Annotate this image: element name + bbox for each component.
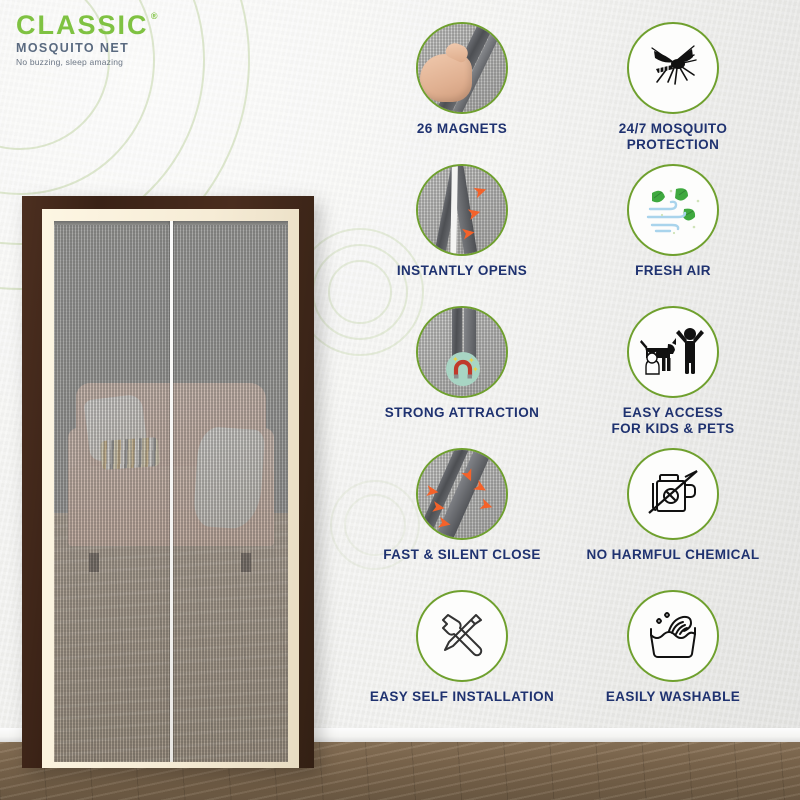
mesh-opening-arrows-photo-icon: ➤ ➤ ➤ xyxy=(416,164,508,256)
feature-magnets[interactable]: 26 MAGNETS xyxy=(367,22,557,137)
feature-label: EASY ACCESS FOR KIDS & PETS xyxy=(575,405,771,437)
feature-fresh-air[interactable]: FRESH AIR xyxy=(575,164,771,279)
feature-label: FAST & SILENT CLOSE xyxy=(367,547,557,563)
feature-label: INSTANTLY OPENS xyxy=(367,263,557,279)
feature-easy-self-installation[interactable]: EASY SELF INSTALLATION xyxy=(367,590,557,705)
magnet-emblem: ✦ ✦ ✦ xyxy=(446,352,480,386)
mesh-center-split xyxy=(170,221,173,762)
feature-mosquito-protection[interactable]: 24/7 MOSQUITO PROTECTION xyxy=(575,22,771,153)
feature-label: NO HARMFUL CHEMICAL xyxy=(575,547,771,563)
feature-label: FRESH AIR xyxy=(575,263,771,279)
feature-easy-access[interactable]: EASY ACCESS FOR KIDS & PETS xyxy=(575,306,771,437)
feature-label: EASILY WASHABLE xyxy=(575,689,771,705)
product-door-photo xyxy=(22,196,314,768)
horseshoe-magnet-icon: ✦ ✦ ✦ xyxy=(416,306,508,398)
hand-wash-basin-icon xyxy=(627,590,719,682)
feature-label: STRONG ATTRACTION xyxy=(367,405,557,421)
feature-instantly-opens[interactable]: ➤ ➤ ➤ INSTANTLY OPENS xyxy=(367,164,557,279)
brand-category: MOSQUITO NET xyxy=(16,41,149,55)
mesh-closing-arrows-photo-icon: ➤ ➤ ➤ ➤ ➤ ➤ xyxy=(416,448,508,540)
brand-name: CLASSIC xyxy=(16,12,149,39)
feature-easily-washable[interactable]: EASILY WASHABLE xyxy=(575,590,771,705)
brand-logo: CLASSIC ® MOSQUITO NET No buzzing, sleep… xyxy=(16,12,149,67)
child-dog-cat-icon xyxy=(627,306,719,398)
feature-no-harmful-chemical[interactable]: NO HARMFUL CHEMICAL xyxy=(575,448,771,563)
no-chemical-sprayer-icon xyxy=(627,448,719,540)
hand-holding-magnetic-strip-photo-icon xyxy=(416,22,508,114)
feature-label: 24/7 MOSQUITO PROTECTION xyxy=(575,121,771,153)
feature-label: 26 MAGNETS xyxy=(367,121,557,137)
mosquito-icon xyxy=(627,22,719,114)
door-opening xyxy=(54,221,288,762)
wrench-screwdriver-icon xyxy=(416,590,508,682)
feature-fast-silent-close[interactable]: ➤ ➤ ➤ ➤ ➤ ➤ FAST & SILENT CLOSE xyxy=(367,448,557,563)
registered-trademark-icon: ® xyxy=(151,11,158,21)
feature-grid: 26 MAGNETS 24/7 MOSQUITO PROTECTION xyxy=(345,22,790,762)
feature-strong-attraction[interactable]: ✦ ✦ ✦ STRONG ATTRACTION xyxy=(367,306,557,421)
leaves-and-breeze-icon xyxy=(627,164,719,256)
feature-label: EASY SELF INSTALLATION xyxy=(367,689,557,705)
brand-tagline: No buzzing, sleep amazing xyxy=(16,57,149,67)
